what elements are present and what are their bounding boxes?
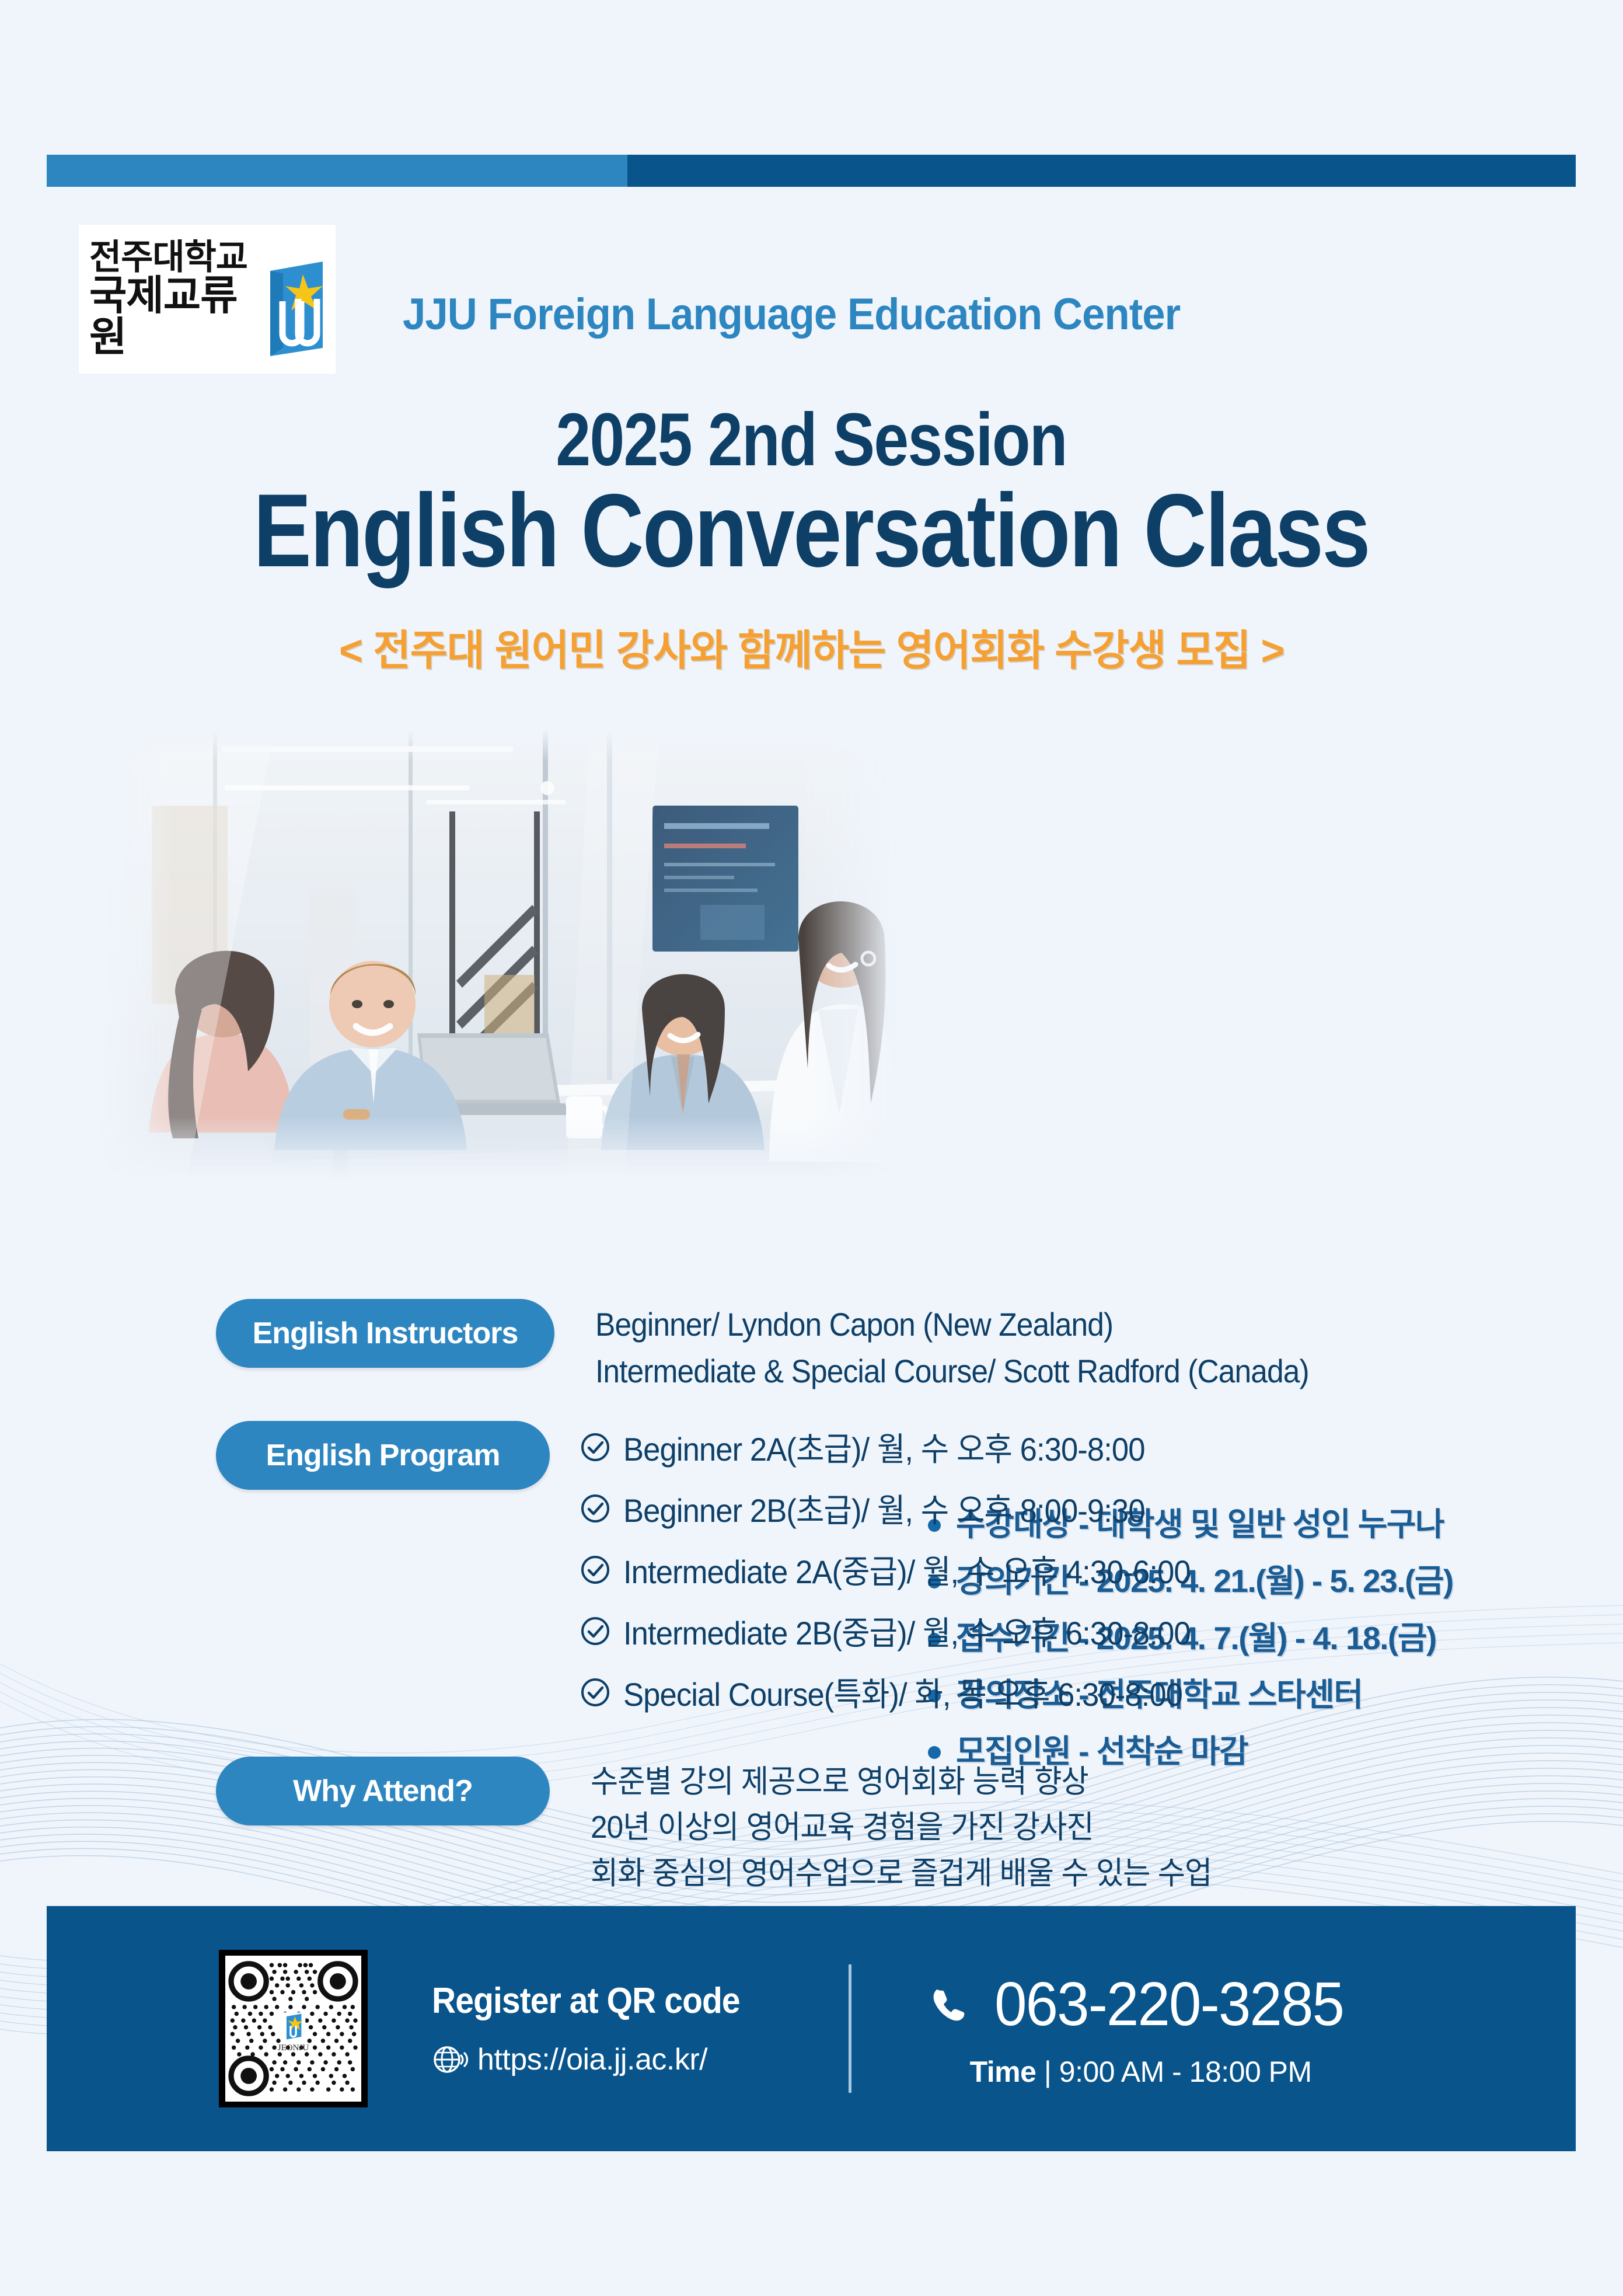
top-bar-dark-segment <box>627 155 1576 187</box>
check-circle-icon <box>580 1616 610 1646</box>
poster-root: 전주대학교 국제교류원 JJU Foreign Language Educati… <box>0 0 1623 2296</box>
globe-icon <box>432 2041 468 2078</box>
subtitle-korean-text: < 전주대 원어민 강사와 함께하는 영어회화 수강생 모집 > <box>339 616 1284 677</box>
phone-number[interactable]: 063-220-3285 <box>983 1969 1355 2040</box>
page-title-text: English Conversation Class <box>254 479 1370 583</box>
program-item: Beginner 2B(초급)/ 월, 수 오후 8:00-9:30 <box>580 1485 1227 1532</box>
why-line: 수준별 강의 제공으로 영어회화 능력 향상 <box>591 1759 1244 1804</box>
why-line: 회화 중심의 영어수업으로 즐겁게 배울 수 있는 수업 <box>591 1851 1244 1896</box>
jj-flag-star-icon <box>262 260 325 358</box>
check-circle-icon <box>580 1555 610 1585</box>
instructor-line-text: Intermediate & Special Course/ Scott Rad… <box>595 1348 1309 1395</box>
phone-icon <box>927 1984 968 2025</box>
title-session-text: 2025 2nd Session <box>556 397 1067 483</box>
top-bar-light-segment <box>47 155 627 187</box>
title-session: 2025 2nd Session <box>0 397 1623 483</box>
instructor-line: Intermediate & Special Course/ Scott Rad… <box>595 1348 1371 1395</box>
time-value: 9:00 AM - 18:00 PM <box>1059 2055 1312 2088</box>
instructors-body: Beginner/ Lyndon Capon (New Zealand) Int… <box>595 1299 1371 1394</box>
label-why-attend: Why Attend? <box>216 1757 550 1825</box>
phone-number-text: 063-220-3285 <box>994 1969 1343 2040</box>
section-instructors: English Instructors Beginner/ Lyndon Cap… <box>0 1299 1623 1394</box>
time-separator: | <box>1044 2055 1052 2088</box>
website-url[interactable]: https://oia.jj.ac.kr/ <box>477 2042 707 2077</box>
why-line: 20년 이상의 영어교육 경험을 가진 강사진 <box>591 1804 1244 1850</box>
program-item-text: Beginner 2A(초급)/ 월, 수 오후 6:30-8:00 <box>623 1423 1145 1471</box>
label-english-instructors: English Instructors <box>216 1299 554 1368</box>
why-line-text: 회화 중심의 영어수업으로 즐겁게 배울 수 있는 수업 <box>591 1851 1212 1896</box>
program-item: Intermediate 2B(중급)/ 월, 수 오후 6:30-8:00 <box>580 1607 1227 1654</box>
time-label: Time <box>970 2055 1036 2088</box>
contact-column: 063-220-3285 Time | 9:00 AM - 18:00 PM <box>927 1969 1355 2089</box>
program-item-text: Special Course(특화)/ 화, 목 오후 6:30-8:00 <box>623 1668 1182 1716</box>
instructor-line: Beginner/ Lyndon Capon (New Zealand) <box>595 1301 1371 1348</box>
why-line-text: 20년 이상의 영어교육 경험을 가진 강사진 <box>591 1804 1094 1850</box>
phone-row[interactable]: 063-220-3285 <box>927 1969 1355 2040</box>
qr-center-label: JEONJU <box>278 2043 309 2053</box>
subtitle-korean: < 전주대 원어민 강사와 함께하는 영어회화 수강생 모집 > <box>0 616 1623 677</box>
university-logo: 전주대학교 국제교류원 <box>79 225 336 374</box>
section-program: English Program Beginner 2A(초급)/ 월, 수 오후… <box>0 1421 1623 1730</box>
detail-sections: English Instructors Beginner/ Lyndon Cap… <box>0 1299 1623 1923</box>
check-circle-icon <box>580 1677 610 1708</box>
program-body: Beginner 2A(초급)/ 월, 수 오후 6:30-8:00 Begin… <box>580 1421 1227 1730</box>
check-circle-icon <box>580 1432 610 1462</box>
footer-divider <box>849 1964 851 2093</box>
program-item-text: Intermediate 2B(중급)/ 월, 수 오후 6:30-8:00 <box>623 1607 1191 1654</box>
top-accent-bar <box>47 155 1576 187</box>
qr-code[interactable]: JEONJU <box>219 1950 368 2107</box>
check-circle-icon <box>580 1493 610 1524</box>
page-title: English Conversation Class <box>0 479 1623 583</box>
program-item-text: Beginner 2B(초급)/ 월, 수 오후 8:00-9:30 <box>623 1485 1145 1532</box>
classroom-meeting-photo <box>99 730 899 1179</box>
register-column: Register at QR code https://oia.jj.ac.kr… <box>432 1980 767 2078</box>
website-row[interactable]: https://oia.jj.ac.kr/ <box>432 2041 767 2078</box>
program-item: Intermediate 2A(중급)/ 월, 수 오후 4:30-6:00 <box>580 1546 1227 1593</box>
label-english-program: English Program <box>216 1421 550 1490</box>
footer-contact-bar: JEONJU Register at QR code <box>47 1906 1576 2151</box>
center-name: JJU Foreign Language Education Center <box>403 289 1180 340</box>
why-line-text: 수준별 강의 제공으로 영어회화 능력 향상 <box>591 1759 1088 1804</box>
office-hours: Time | 9:00 AM - 18:00 PM <box>927 2055 1355 2089</box>
program-item: Special Course(특화)/ 화, 목 오후 6:30-8:00 <box>580 1668 1227 1716</box>
program-item-text: Intermediate 2A(중급)/ 월, 수 오후 4:30-6:00 <box>623 1546 1191 1593</box>
register-title: Register at QR code <box>432 1980 767 2022</box>
register-title-text: Register at QR code <box>432 1980 740 2022</box>
section-why-attend: Why Attend? 수준별 강의 제공으로 영어회화 능력 향상 20년 이… <box>0 1757 1623 1896</box>
program-item: Beginner 2A(초급)/ 월, 수 오후 6:30-8:00 <box>580 1423 1227 1471</box>
logo-text-line1: 전주대학교 <box>89 240 259 276</box>
instructor-line-text: Beginner/ Lyndon Capon (New Zealand) <box>595 1301 1113 1348</box>
why-body: 수준별 강의 제공으로 영어회화 능력 향상 20년 이상의 영어교육 경험을 … <box>591 1757 1244 1896</box>
hero-band: 수강대상 - 대학생 및 일반 성인 누구나 강의기간 - 2025. 4. 2… <box>0 718 1623 1302</box>
logo-text-line2: 국제교류원 <box>89 276 259 359</box>
